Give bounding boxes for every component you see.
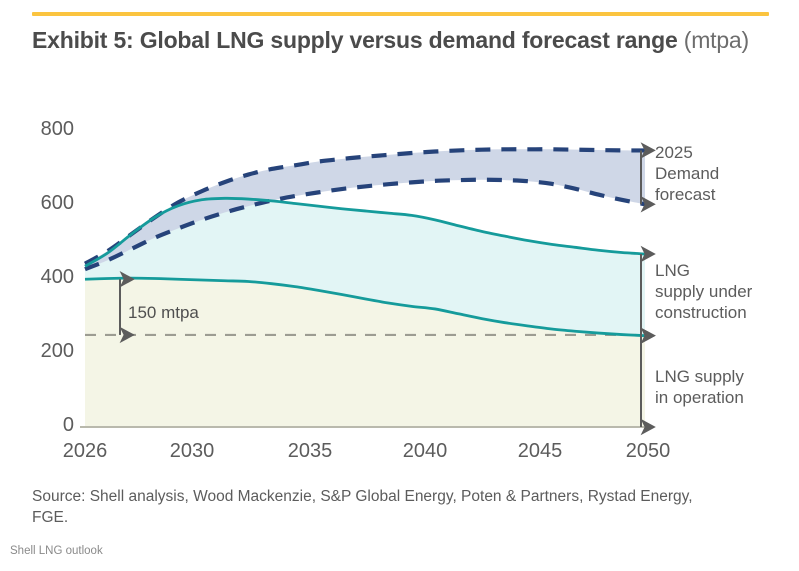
y-axis-tick-200: 200 bbox=[14, 340, 74, 363]
y-axis-tick-400: 400 bbox=[14, 266, 74, 289]
gap-callout-label: 150 mtpa bbox=[128, 303, 199, 323]
annotation-supply-in-operation: LNG supply in operation bbox=[655, 366, 744, 408]
x-axis-tick-2030: 2030 bbox=[152, 440, 232, 463]
footer-caption: Shell LNG outlook bbox=[10, 545, 103, 557]
line-demand-high bbox=[85, 149, 645, 263]
source-note: Source: Shell analysis, Wood Mackenzie, … bbox=[32, 486, 732, 528]
page-title-unit: (mtpa) bbox=[678, 27, 749, 53]
annotation-supply-under-construction: LNG supply under construction bbox=[655, 260, 752, 323]
top-accent-rule bbox=[32, 12, 769, 16]
area-demand-band bbox=[85, 149, 645, 269]
exhibit-chart-card: Exhibit 5: Global LNG supply versus dema… bbox=[0, 0, 799, 571]
page-title: Exhibit 5: Global LNG supply versus dema… bbox=[32, 26, 762, 55]
y-axis-tick-800: 800 bbox=[14, 118, 74, 141]
area-in-operation bbox=[85, 278, 645, 427]
area-fills bbox=[85, 149, 645, 427]
x-axis-tick-2045: 2045 bbox=[500, 440, 580, 463]
annotation-demand-forecast: 2025 Demand forecast bbox=[655, 142, 719, 205]
line-demand-low bbox=[85, 180, 645, 269]
x-axis-tick-2026: 2026 bbox=[45, 440, 125, 463]
callout-arrows bbox=[120, 150, 641, 427]
page-title-main: Exhibit 5: Global LNG supply versus dema… bbox=[32, 27, 678, 53]
y-axis-tick-600: 600 bbox=[14, 192, 74, 215]
x-axis-tick-2050: 2050 bbox=[608, 440, 688, 463]
line-supply-under-construction bbox=[85, 198, 645, 266]
x-axis-tick-2035: 2035 bbox=[270, 440, 350, 463]
y-axis-tick-0: 0 bbox=[14, 414, 74, 437]
x-axis-tick-2040: 2040 bbox=[385, 440, 465, 463]
